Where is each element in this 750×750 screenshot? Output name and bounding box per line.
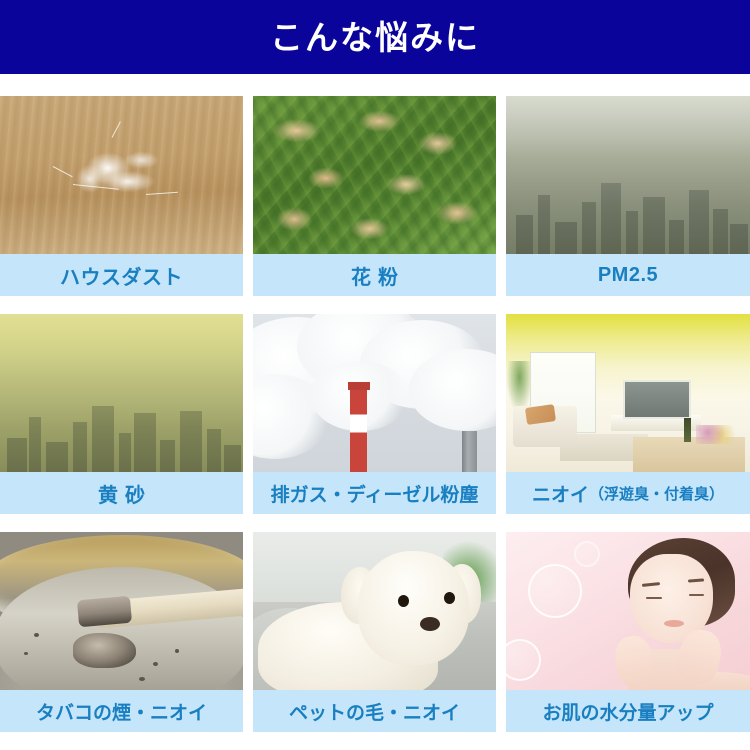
tile-yellow-sand[interactable]: 黄砂 — [0, 314, 243, 514]
tile-label-odor-main: ニオイ — [532, 480, 589, 507]
yellow-sand-city-photo-illustration — [0, 314, 243, 472]
tile-image-yellow-sand — [0, 314, 243, 472]
ashtray-basin — [0, 567, 243, 690]
tile-odor[interactable]: ニオイ（浮遊臭・付着臭） — [506, 314, 750, 514]
tile-image-pm25 — [506, 96, 750, 254]
tile-exhaust-gas[interactable]: 排ガス・ディーゼル粉塵 — [253, 314, 496, 514]
tile-image-house-dust — [0, 96, 243, 254]
room-bottle — [684, 418, 691, 442]
tile-tobacco[interactable]: タバコの煙・ニオイ — [0, 532, 243, 732]
ash-pile — [73, 633, 136, 668]
dog-head — [358, 551, 470, 665]
tile-label-tobacco: タバコの煙・ニオイ — [0, 690, 243, 732]
haze-overlay — [506, 96, 750, 254]
tile-pet[interactable]: ペットの毛・ニオイ — [253, 532, 496, 732]
tile-label-pollen: 花粉 — [253, 254, 496, 296]
tile-label-exhaust-gas: 排ガス・ディーゼル粉塵 — [253, 472, 496, 514]
dust-photo-illustration — [0, 96, 243, 254]
skincare-photo-illustration — [506, 532, 750, 690]
page-title: こんな悩みに — [270, 21, 480, 54]
smokestack-main — [350, 390, 367, 472]
smokestack-photo-illustration — [253, 314, 496, 472]
tile-label-odor-sub: （浮遊臭・付着臭） — [589, 483, 724, 504]
page-header: こんな悩みに — [0, 0, 750, 74]
tile-house-dust[interactable]: ハウスダスト — [0, 96, 243, 296]
ashtray-photo-illustration — [0, 532, 243, 690]
tile-label-yellow-sand: 黄砂 — [0, 472, 243, 514]
concerns-grid: ハウスダスト 花粉 — [0, 96, 750, 732]
tile-label-pet: ペットの毛・ニオイ — [253, 690, 496, 732]
tile-image-pollen — [253, 96, 496, 254]
cigarette-ash-tip — [77, 596, 133, 627]
tile-skin-moisture[interactable]: お肌の水分量アップ — [506, 532, 750, 732]
tile-label-odor: ニオイ（浮遊臭・付着臭） — [506, 472, 750, 514]
living-room-photo-illustration — [506, 314, 750, 472]
tile-image-pet — [253, 532, 496, 690]
tile-pm25[interactable]: PM2.5 — [506, 96, 750, 296]
tile-pollen[interactable]: 花粉 — [253, 96, 496, 296]
tile-label-skin-moisture: お肌の水分量アップ — [506, 690, 750, 732]
tile-label-pm25: PM2.5 — [506, 254, 750, 296]
tile-image-tobacco — [0, 532, 243, 690]
smokestack-secondary — [462, 431, 477, 472]
room-television — [623, 380, 690, 419]
pollen-photo-illustration — [253, 96, 496, 254]
tile-image-exhaust-gas — [253, 314, 496, 472]
tile-image-skin-moisture — [506, 532, 750, 690]
yellow-haze-overlay — [0, 314, 243, 472]
poodle-photo-illustration — [253, 532, 496, 690]
tile-image-odor — [506, 314, 750, 472]
tile-label-house-dust: ハウスダスト — [0, 254, 243, 296]
smog-city-photo-illustration — [506, 96, 750, 254]
room-flowers — [696, 425, 735, 444]
smokestack-cap — [348, 382, 370, 390]
promo-page: こんな悩みに ハウスダスト 花粉 — [0, 0, 750, 750]
